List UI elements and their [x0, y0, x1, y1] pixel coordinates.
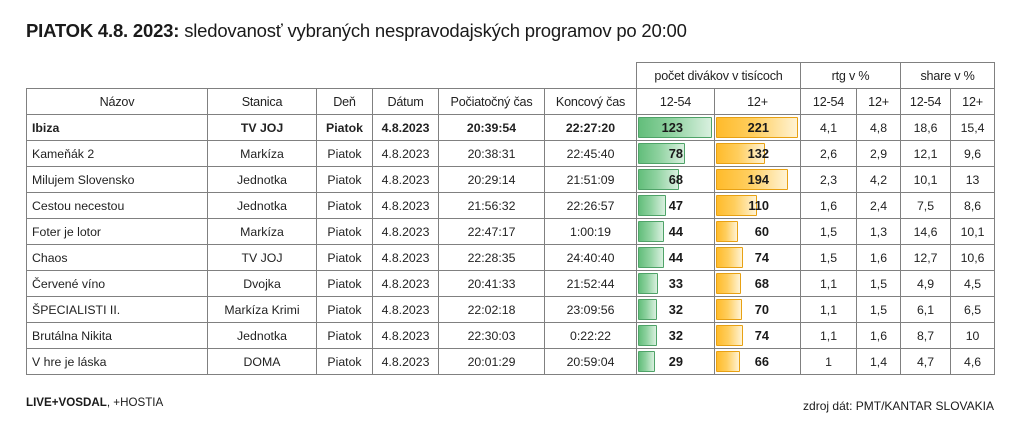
cell-nazov: Chaos	[27, 245, 208, 271]
cell-nazov: Foter je lotor	[27, 219, 208, 245]
cell-viewers-12plus-value: 60	[720, 220, 795, 244]
cell-stanica: Markíza	[208, 141, 317, 167]
cell-rtg-1254: 4,1	[801, 115, 857, 141]
cell-viewers-12plus-value: 66	[720, 350, 795, 374]
footer-source: zdroj dát: PMT/KANTAR SLOVAKIA	[803, 399, 994, 413]
cell-rtg-12plus: 4,8	[857, 115, 901, 141]
col-header-stanica: Stanica	[208, 89, 317, 115]
cell-share-1254: 8,7	[901, 323, 951, 349]
cell-den: Piatok	[317, 141, 373, 167]
cell-zaciatok: 20:41:33	[439, 271, 545, 297]
cell-rtg-1254: 1,6	[801, 193, 857, 219]
table-row[interactable]: Cestou necestouJednotkaPiatok4.8.202321:…	[27, 193, 995, 219]
cell-share-1254: 12,1	[901, 141, 951, 167]
cell-share-12plus: 13	[951, 167, 995, 193]
cell-share-12plus: 4,6	[951, 349, 995, 375]
cell-viewers-12plus-value: 68	[720, 272, 795, 296]
cell-viewers-1254: 32	[637, 297, 715, 323]
cell-share-1254: 12,7	[901, 245, 951, 271]
cell-viewers-12plus: 221	[715, 115, 801, 141]
cell-koniec: 0:22:22	[545, 323, 637, 349]
cell-viewers-12plus-value: 74	[720, 324, 795, 348]
cell-share-12plus: 10,1	[951, 219, 995, 245]
table-row[interactable]: IbizaTV JOJPiatok4.8.202320:39:5422:27:2…	[27, 115, 995, 141]
cell-stanica: Markíza Krimi	[208, 297, 317, 323]
cell-viewers-1254: 78	[637, 141, 715, 167]
cell-share-12plus: 10,6	[951, 245, 995, 271]
cell-rtg-12plus: 1,4	[857, 349, 901, 375]
col-header-viewers-1254: 12-54	[637, 89, 715, 115]
cell-rtg-12plus: 1,5	[857, 271, 901, 297]
cell-koniec: 23:09:56	[545, 297, 637, 323]
cell-stanica: Jednotka	[208, 193, 317, 219]
screenshot-root: PIATOK 4.8. 2023: sledovanosť vybraných …	[0, 0, 1024, 430]
cell-stanica: TV JOJ	[208, 245, 317, 271]
cell-viewers-12plus: 132	[715, 141, 801, 167]
cell-share-1254: 18,6	[901, 115, 951, 141]
page-title: PIATOK 4.8. 2023: sledovanosť vybraných …	[26, 20, 687, 42]
group-header-rtg: rtg v %	[801, 63, 901, 89]
cell-nazov: V hre je láska	[27, 349, 208, 375]
cell-datum: 4.8.2023	[373, 245, 439, 271]
cell-zaciatok: 20:39:54	[439, 115, 545, 141]
cell-den: Piatok	[317, 167, 373, 193]
cell-rtg-12plus: 1,5	[857, 297, 901, 323]
table-row[interactable]: Kameňák 2MarkízaPiatok4.8.202320:38:3122…	[27, 141, 995, 167]
cell-rtg-1254: 1,1	[801, 271, 857, 297]
cell-viewers-1254: 123	[637, 115, 715, 141]
cell-koniec: 20:59:04	[545, 349, 637, 375]
col-header-share-1254: 12-54	[901, 89, 951, 115]
cell-datum: 4.8.2023	[373, 193, 439, 219]
cell-viewers-1254: 33	[637, 271, 715, 297]
cell-rtg-12plus: 2,4	[857, 193, 901, 219]
cell-zaciatok: 22:02:18	[439, 297, 545, 323]
cell-zaciatok: 20:38:31	[439, 141, 545, 167]
cell-datum: 4.8.2023	[373, 297, 439, 323]
cell-share-1254: 4,7	[901, 349, 951, 375]
cell-den: Piatok	[317, 349, 373, 375]
cell-koniec: 21:51:09	[545, 167, 637, 193]
cell-den: Piatok	[317, 115, 373, 141]
cell-stanica: Jednotka	[208, 167, 317, 193]
col-header-share-12plus: 12+	[951, 89, 995, 115]
cell-share-1254: 10,1	[901, 167, 951, 193]
cell-koniec: 22:26:57	[545, 193, 637, 219]
cell-share-1254: 6,1	[901, 297, 951, 323]
group-header-viewers: počet divákov v tisícoch	[637, 63, 801, 89]
cell-viewers-1254-value: 68	[642, 168, 709, 192]
cell-rtg-1254: 1,1	[801, 297, 857, 323]
cell-zaciatok: 20:29:14	[439, 167, 545, 193]
cell-viewers-12plus-value: 221	[720, 116, 795, 140]
cell-viewers-12plus-value: 74	[720, 246, 795, 270]
ratings-table: počet divákov v tisícoch rtg v % share v…	[26, 62, 995, 375]
cell-viewers-1254: 47	[637, 193, 715, 219]
cell-viewers-1254-value: 47	[642, 194, 709, 218]
cell-viewers-12plus-value: 70	[720, 298, 795, 322]
col-header-zaciatok: Počiatočný čas	[439, 89, 545, 115]
cell-viewers-12plus: 74	[715, 245, 801, 271]
cell-viewers-12plus: 110	[715, 193, 801, 219]
cell-rtg-1254: 2,3	[801, 167, 857, 193]
cell-den: Piatok	[317, 271, 373, 297]
table-row[interactable]: V hre je láskaDOMAPiatok4.8.202320:01:29…	[27, 349, 995, 375]
cell-rtg-12plus: 1,6	[857, 323, 901, 349]
cell-viewers-1254: 29	[637, 349, 715, 375]
cell-viewers-12plus: 194	[715, 167, 801, 193]
cell-nazov: Cestou necestou	[27, 193, 208, 219]
cell-den: Piatok	[317, 245, 373, 271]
cell-datum: 4.8.2023	[373, 349, 439, 375]
cell-viewers-12plus-value: 110	[720, 194, 795, 218]
cell-zaciatok: 22:47:17	[439, 219, 545, 245]
cell-share-12plus: 10	[951, 323, 995, 349]
cell-viewers-12plus: 74	[715, 323, 801, 349]
cell-nazov: ŠPECIALISTI II.	[27, 297, 208, 323]
cell-share-1254: 14,6	[901, 219, 951, 245]
cell-viewers-1254-value: 123	[642, 116, 709, 140]
cell-share-12plus: 4,5	[951, 271, 995, 297]
table-row[interactable]: Foter je lotorMarkízaPiatok4.8.202322:47…	[27, 219, 995, 245]
table-row[interactable]: ŠPECIALISTI II.Markíza KrimiPiatok4.8.20…	[27, 297, 995, 323]
cell-stanica: Dvojka	[208, 271, 317, 297]
cell-koniec: 1:00:19	[545, 219, 637, 245]
table-body: IbizaTV JOJPiatok4.8.202320:39:5422:27:2…	[27, 115, 995, 375]
cell-nazov: Ibiza	[27, 115, 208, 141]
cell-rtg-12plus: 1,3	[857, 219, 901, 245]
cell-datum: 4.8.2023	[373, 219, 439, 245]
cell-datum: 4.8.2023	[373, 115, 439, 141]
col-header-nazov: Názov	[27, 89, 208, 115]
cell-viewers-12plus-value: 132	[720, 142, 795, 166]
col-header-rtg-1254: 12-54	[801, 89, 857, 115]
cell-den: Piatok	[317, 297, 373, 323]
cell-zaciatok: 22:28:35	[439, 245, 545, 271]
cell-datum: 4.8.2023	[373, 167, 439, 193]
table-row[interactable]: Brutálna NikitaJednotkaPiatok4.8.202322:…	[27, 323, 995, 349]
cell-zaciatok: 21:56:32	[439, 193, 545, 219]
cell-nazov: Červené víno	[27, 271, 208, 297]
cell-datum: 4.8.2023	[373, 271, 439, 297]
page-title-description: sledovanosť vybraných nespravodajských p…	[184, 20, 687, 41]
cell-rtg-1254: 1	[801, 349, 857, 375]
cell-rtg-12plus: 4,2	[857, 167, 901, 193]
cell-rtg-1254: 2,6	[801, 141, 857, 167]
page-title-date: PIATOK 4.8. 2023:	[26, 20, 179, 41]
cell-rtg-1254: 1,5	[801, 245, 857, 271]
table-header: počet divákov v tisícoch rtg v % share v…	[27, 63, 995, 115]
cell-share-12plus: 8,6	[951, 193, 995, 219]
cell-rtg-12plus: 1,6	[857, 245, 901, 271]
cell-koniec: 21:52:44	[545, 271, 637, 297]
cell-datum: 4.8.2023	[373, 323, 439, 349]
cell-viewers-1254-value: 32	[642, 298, 709, 322]
cell-share-1254: 7,5	[901, 193, 951, 219]
col-header-koniec: Koncový čas	[545, 89, 637, 115]
cell-stanica: TV JOJ	[208, 115, 317, 141]
col-header-rtg-12plus: 12+	[857, 89, 901, 115]
cell-datum: 4.8.2023	[373, 141, 439, 167]
cell-nazov: Milujem Slovensko	[27, 167, 208, 193]
cell-koniec: 22:27:20	[545, 115, 637, 141]
cell-viewers-12plus: 66	[715, 349, 801, 375]
cell-share-12plus: 9,6	[951, 141, 995, 167]
cell-zaciatok: 22:30:03	[439, 323, 545, 349]
cell-viewers-1254-value: 44	[642, 220, 709, 244]
cell-nazov: Kameňák 2	[27, 141, 208, 167]
cell-stanica: Jednotka	[208, 323, 317, 349]
cell-rtg-1254: 1,5	[801, 219, 857, 245]
cell-viewers-12plus: 70	[715, 297, 801, 323]
table-row[interactable]: Milujem SlovenskoJednotkaPiatok4.8.20232…	[27, 167, 995, 193]
cell-stanica: DOMA	[208, 349, 317, 375]
cell-koniec: 24:40:40	[545, 245, 637, 271]
cell-den: Piatok	[317, 323, 373, 349]
cell-viewers-12plus: 68	[715, 271, 801, 297]
group-header-share: share v %	[901, 63, 995, 89]
cell-share-1254: 4,9	[901, 271, 951, 297]
table-row[interactable]: Červené vínoDvojkaPiatok4.8.202320:41:33…	[27, 271, 995, 297]
footer-note-metric: LIVE+VOSDAL	[26, 396, 107, 409]
cell-share-12plus: 6,5	[951, 297, 995, 323]
cell-den: Piatok	[317, 219, 373, 245]
col-header-viewers-12plus: 12+	[715, 89, 801, 115]
cell-rtg-12plus: 2,9	[857, 141, 901, 167]
cell-den: Piatok	[317, 193, 373, 219]
cell-viewers-12plus: 60	[715, 219, 801, 245]
cell-viewers-1254-value: 33	[642, 272, 709, 296]
group-header-row: počet divákov v tisícoch rtg v % share v…	[27, 63, 995, 89]
footer-note: LIVE+VOSDAL, +HOSTIA	[26, 396, 163, 409]
cell-viewers-1254: 44	[637, 245, 715, 271]
cell-viewers-1254: 68	[637, 167, 715, 193]
column-header-row: Názov Stanica Deň Dátum Počiatočný čas K…	[27, 89, 995, 115]
cell-viewers-1254-value: 44	[642, 246, 709, 270]
cell-viewers-1254: 44	[637, 219, 715, 245]
cell-viewers-1254: 32	[637, 323, 715, 349]
cell-stanica: Markíza	[208, 219, 317, 245]
cell-viewers-1254-value: 32	[642, 324, 709, 348]
footer-note-extra: , +HOSTIA	[107, 396, 163, 409]
cell-share-12plus: 15,4	[951, 115, 995, 141]
cell-viewers-1254-value: 29	[642, 350, 709, 374]
cell-zaciatok: 20:01:29	[439, 349, 545, 375]
cell-rtg-1254: 1,1	[801, 323, 857, 349]
cell-nazov: Brutálna Nikita	[27, 323, 208, 349]
cell-viewers-1254-value: 78	[642, 142, 709, 166]
cell-koniec: 22:45:40	[545, 141, 637, 167]
col-header-datum: Dátum	[373, 89, 439, 115]
cell-viewers-12plus-value: 194	[720, 168, 795, 192]
table-row[interactable]: ChaosTV JOJPiatok4.8.202322:28:3524:40:4…	[27, 245, 995, 271]
col-header-den: Deň	[317, 89, 373, 115]
